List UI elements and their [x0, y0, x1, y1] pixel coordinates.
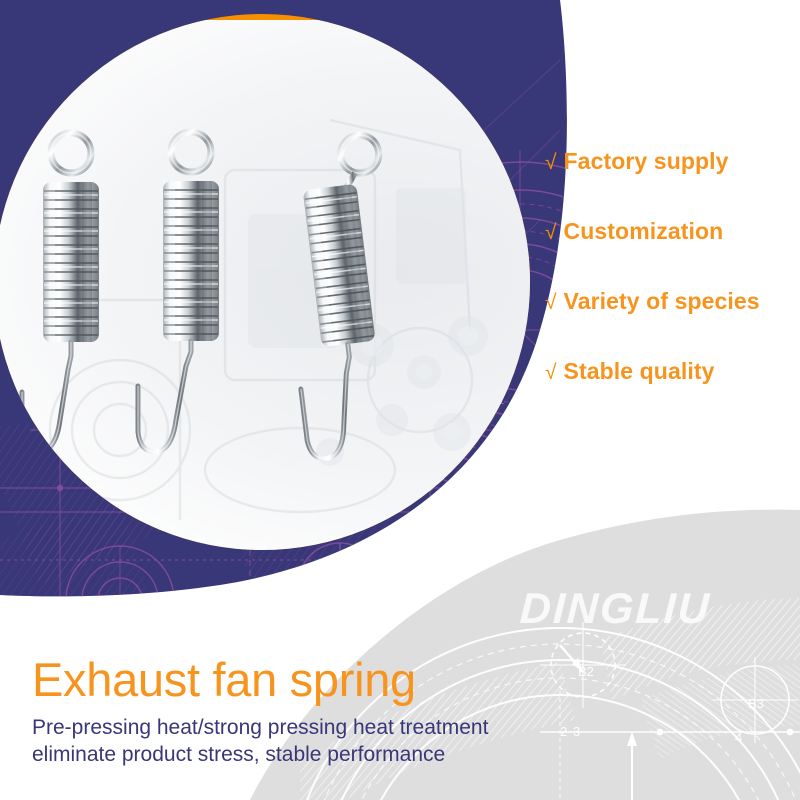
feature-item-stable-quality: √ Stable quality: [545, 360, 795, 430]
feature-item-customization: √ Customization: [545, 220, 795, 290]
feature-item-factory-supply: √ Factory supply: [545, 150, 795, 220]
check-icon: √: [545, 222, 557, 243]
product-subtitle: Pre-pressing heat/strong pressing heat t…: [32, 715, 632, 768]
check-icon: √: [545, 152, 557, 173]
check-icon: √: [545, 362, 557, 383]
product-text-block: Exhaust fan spring Pre-pressing heat/str…: [32, 655, 632, 768]
feature-label: Variety of species: [564, 290, 760, 313]
feature-label: Stable quality: [564, 360, 715, 383]
feature-label: Factory supply: [564, 150, 729, 173]
product-title: Exhaust fan spring: [32, 655, 632, 704]
feature-list: √ Factory supply √ Customization √ Varie…: [545, 150, 795, 430]
product-subtitle-line-1: Pre-pressing heat/strong pressing heat t…: [32, 715, 632, 741]
product-banner: 2 1 K0 K 3 m: [0, 0, 800, 800]
blueprint-label: B3: [748, 696, 764, 711]
check-icon: √: [545, 292, 557, 313]
product-subtitle-line-2: eliminate product stress, stable perform…: [32, 742, 632, 768]
feature-label: Customization: [564, 220, 724, 243]
feature-item-variety-of-species: √ Variety of species: [545, 290, 795, 360]
blueprint-label: 4: [735, 730, 742, 745]
